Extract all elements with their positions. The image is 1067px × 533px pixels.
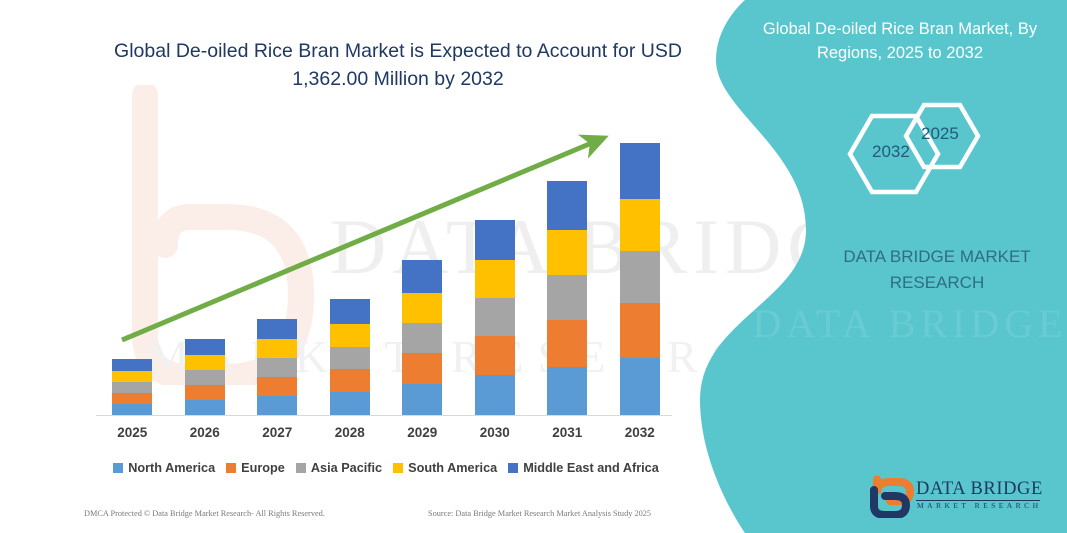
- legend-item: Asia Pacific: [296, 461, 382, 475]
- x-axis-label: 2031: [537, 425, 597, 440]
- legend-label: Europe: [241, 461, 285, 475]
- legend-item: Middle East and Africa: [508, 461, 659, 475]
- footer-source: Source: Data Bridge Market Research Mark…: [428, 509, 651, 518]
- infographic-canvas: DATA BRIDGE MARKET RESEARCH Global De-oi…: [0, 0, 1067, 533]
- growth-trend-arrow: [96, 120, 676, 416]
- legend-label: Middle East and Africa: [523, 461, 659, 475]
- logo-subtitle: MARKET RESEARCH: [917, 501, 1042, 510]
- legend-label: North America: [128, 461, 215, 475]
- legend-swatch: [508, 463, 518, 473]
- legend-label: South America: [408, 461, 497, 475]
- legend-swatch: [226, 463, 236, 473]
- hexagon-badges: 2032 2025: [820, 92, 1010, 217]
- logo-mark-icon: [868, 476, 914, 518]
- x-axis-label: 2030: [465, 425, 525, 440]
- legend-swatch: [296, 463, 306, 473]
- legend-swatch: [393, 463, 403, 473]
- x-axis-label: 2025: [102, 425, 162, 440]
- legend-item: North America: [113, 461, 215, 475]
- legend-swatch: [113, 463, 123, 473]
- panel-title: Global De-oiled Rice Bran Market, By Reg…: [740, 18, 1060, 66]
- footer-copyright: DMCA Protected © Data Bridge Market Rese…: [84, 509, 325, 518]
- chart-legend: North AmericaEuropeAsia PacificSouth Ame…: [96, 458, 676, 478]
- panel-watermark: DATA BRIDGE: [745, 300, 1067, 347]
- hexagon-2032-label: 2032: [872, 142, 910, 162]
- legend-label: Asia Pacific: [311, 461, 382, 475]
- x-axis-tick-labels: 20252026202720282029203020312032: [96, 425, 676, 447]
- data-bridge-logo: DATA BRIDGE MARKET RESEARCH: [868, 476, 1043, 520]
- panel-brand-text: DATA BRIDGE MARKET RESEARCH: [812, 244, 1062, 295]
- legend-item: South America: [393, 461, 497, 475]
- hexagon-2025-label: 2025: [921, 124, 959, 144]
- logo-title: DATA BRIDGE: [916, 479, 1043, 500]
- x-axis-label: 2027: [247, 425, 307, 440]
- page-title: Global De-oiled Rice Bran Market is Expe…: [108, 38, 688, 93]
- x-axis-label: 2026: [175, 425, 235, 440]
- x-axis-label: 2028: [320, 425, 380, 440]
- x-axis-label: 2032: [610, 425, 670, 440]
- legend-item: Europe: [226, 461, 285, 475]
- x-axis-label: 2029: [392, 425, 452, 440]
